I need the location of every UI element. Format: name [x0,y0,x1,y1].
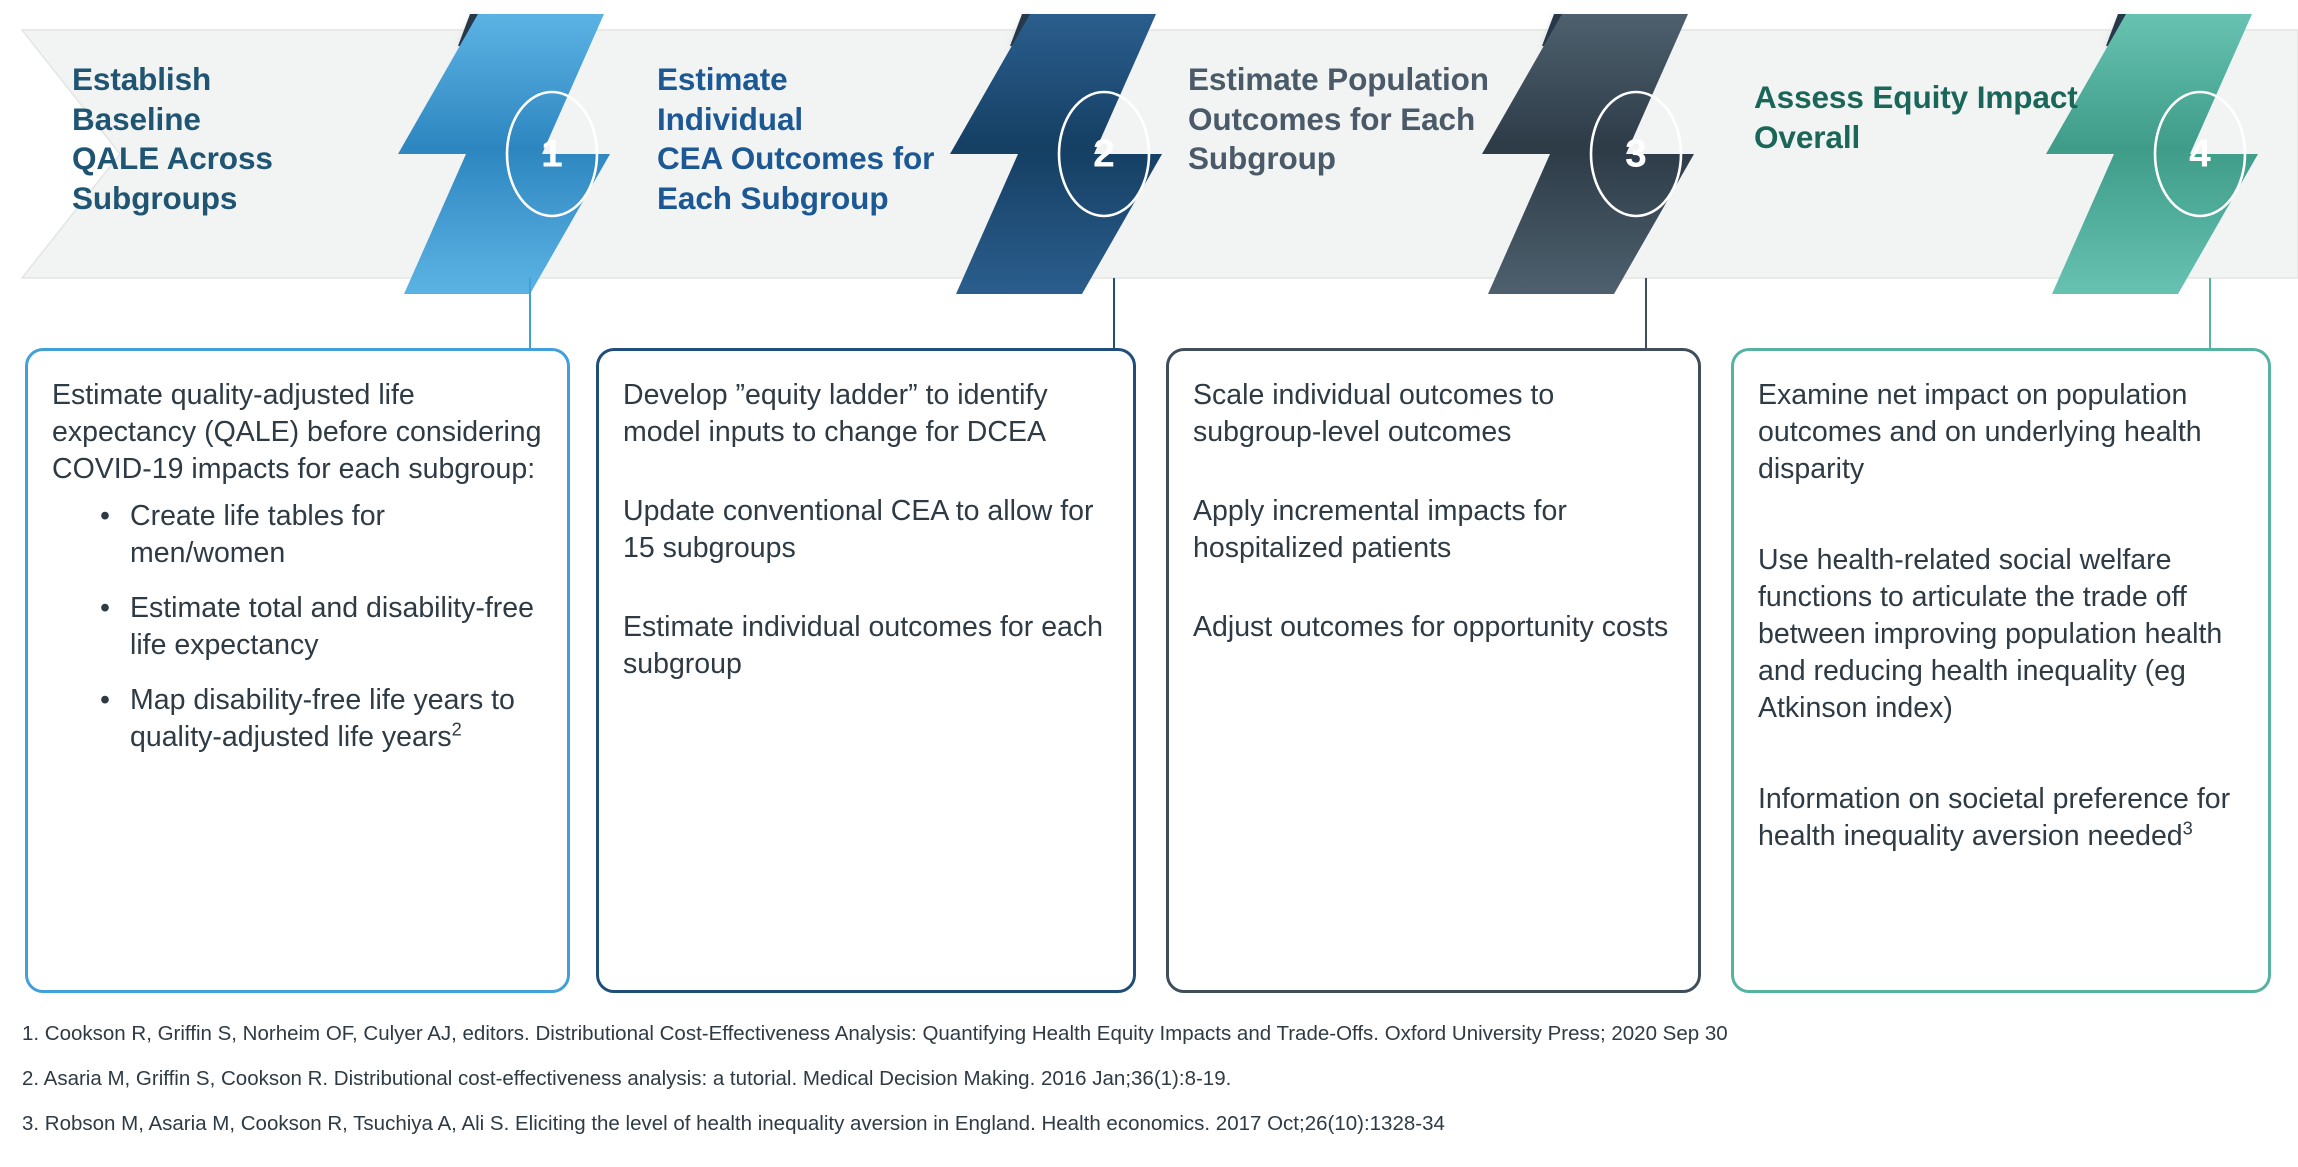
box-4-paragraph-1: Examine net impact on population outcome… [1758,377,2244,488]
footnote-2: 2. Asaria M, Griffin S, Cookson R. Distr… [22,1069,2282,1090]
step-heading-3: Estimate Population Outcomes for Each Su… [1188,60,1568,179]
box-4-paragraph-3: Information on societal preference for h… [1758,781,2244,855]
bullet-marker-icon: • [100,498,110,535]
content-box-step-1: Estimate quality-adjusted life expectanc… [25,348,570,993]
content-box-step-2: Develop ”equity ladder” to identify mode… [596,348,1136,993]
connector-line-step-2 [1113,278,1115,350]
connector-line-step-3 [1645,278,1647,350]
content-box-step-3: Scale individual outcomes to subgroup-le… [1166,348,1701,993]
step-heading-4: Assess Equity Impact Overall [1754,78,2154,157]
box-1-bullet-item: •Map disability-free life years to quali… [52,682,543,756]
chevron-number-1: 1 [541,133,563,176]
box-3-paragraph-1: Scale individual outcomes to subgroup-le… [1193,377,1674,451]
step-heading-1: Establish Baseline QALE Across Subgroups [72,60,342,219]
footnote-3: 3. Robson M, Asaria M, Cookson R, Tsuchi… [22,1114,2282,1135]
bullet-marker-icon: • [100,590,110,627]
step-heading-2: Estimate Individual CEA Outcomes for Eac… [657,60,937,219]
content-box-step-4: Examine net impact on population outcome… [1731,348,2271,993]
box-1-bullet-list: •Create life tables for men/women•Estima… [52,498,543,756]
box-2-paragraph-1: Develop ”equity ladder” to identify mode… [623,377,1109,451]
footnote-reference: 2 [452,719,462,740]
footnote-reference: 3 [2183,818,2193,839]
box-2-paragraph-2: Update conventional CEA to allow for 15 … [623,493,1109,567]
bullet-marker-icon: • [100,682,110,719]
box-3-paragraph-2: Apply incremental impacts for hospitaliz… [1193,493,1674,567]
connector-line-step-4 [2209,278,2211,350]
box-1-bullet-item: •Estimate total and disability-free life… [52,590,543,664]
connector-line-step-1 [529,278,531,350]
box-3-paragraph-3: Adjust outcomes for opportunity costs [1193,609,1674,646]
chevron-number-2: 2 [1093,133,1115,176]
footnote-list: 1. Cookson R, Griffin S, Norheim OF, Cul… [22,1024,2282,1159]
box-1-intro-text: Estimate quality-adjusted life expectanc… [52,377,543,488]
footnote-1: 1. Cookson R, Griffin S, Norheim OF, Cul… [22,1024,2282,1045]
box-4-paragraph-2: Use health-related social welfare functi… [1758,542,2244,727]
chevron-number-3: 3 [1625,133,1647,176]
chevron-number-4: 4 [2189,133,2211,176]
process-band: 1 2 3 4 Establish Baseline QALE Across S… [0,0,2298,300]
box-1-bullet-item: •Create life tables for men/women [52,498,543,572]
box-2-paragraph-3: Estimate individual outcomes for each su… [623,609,1109,683]
